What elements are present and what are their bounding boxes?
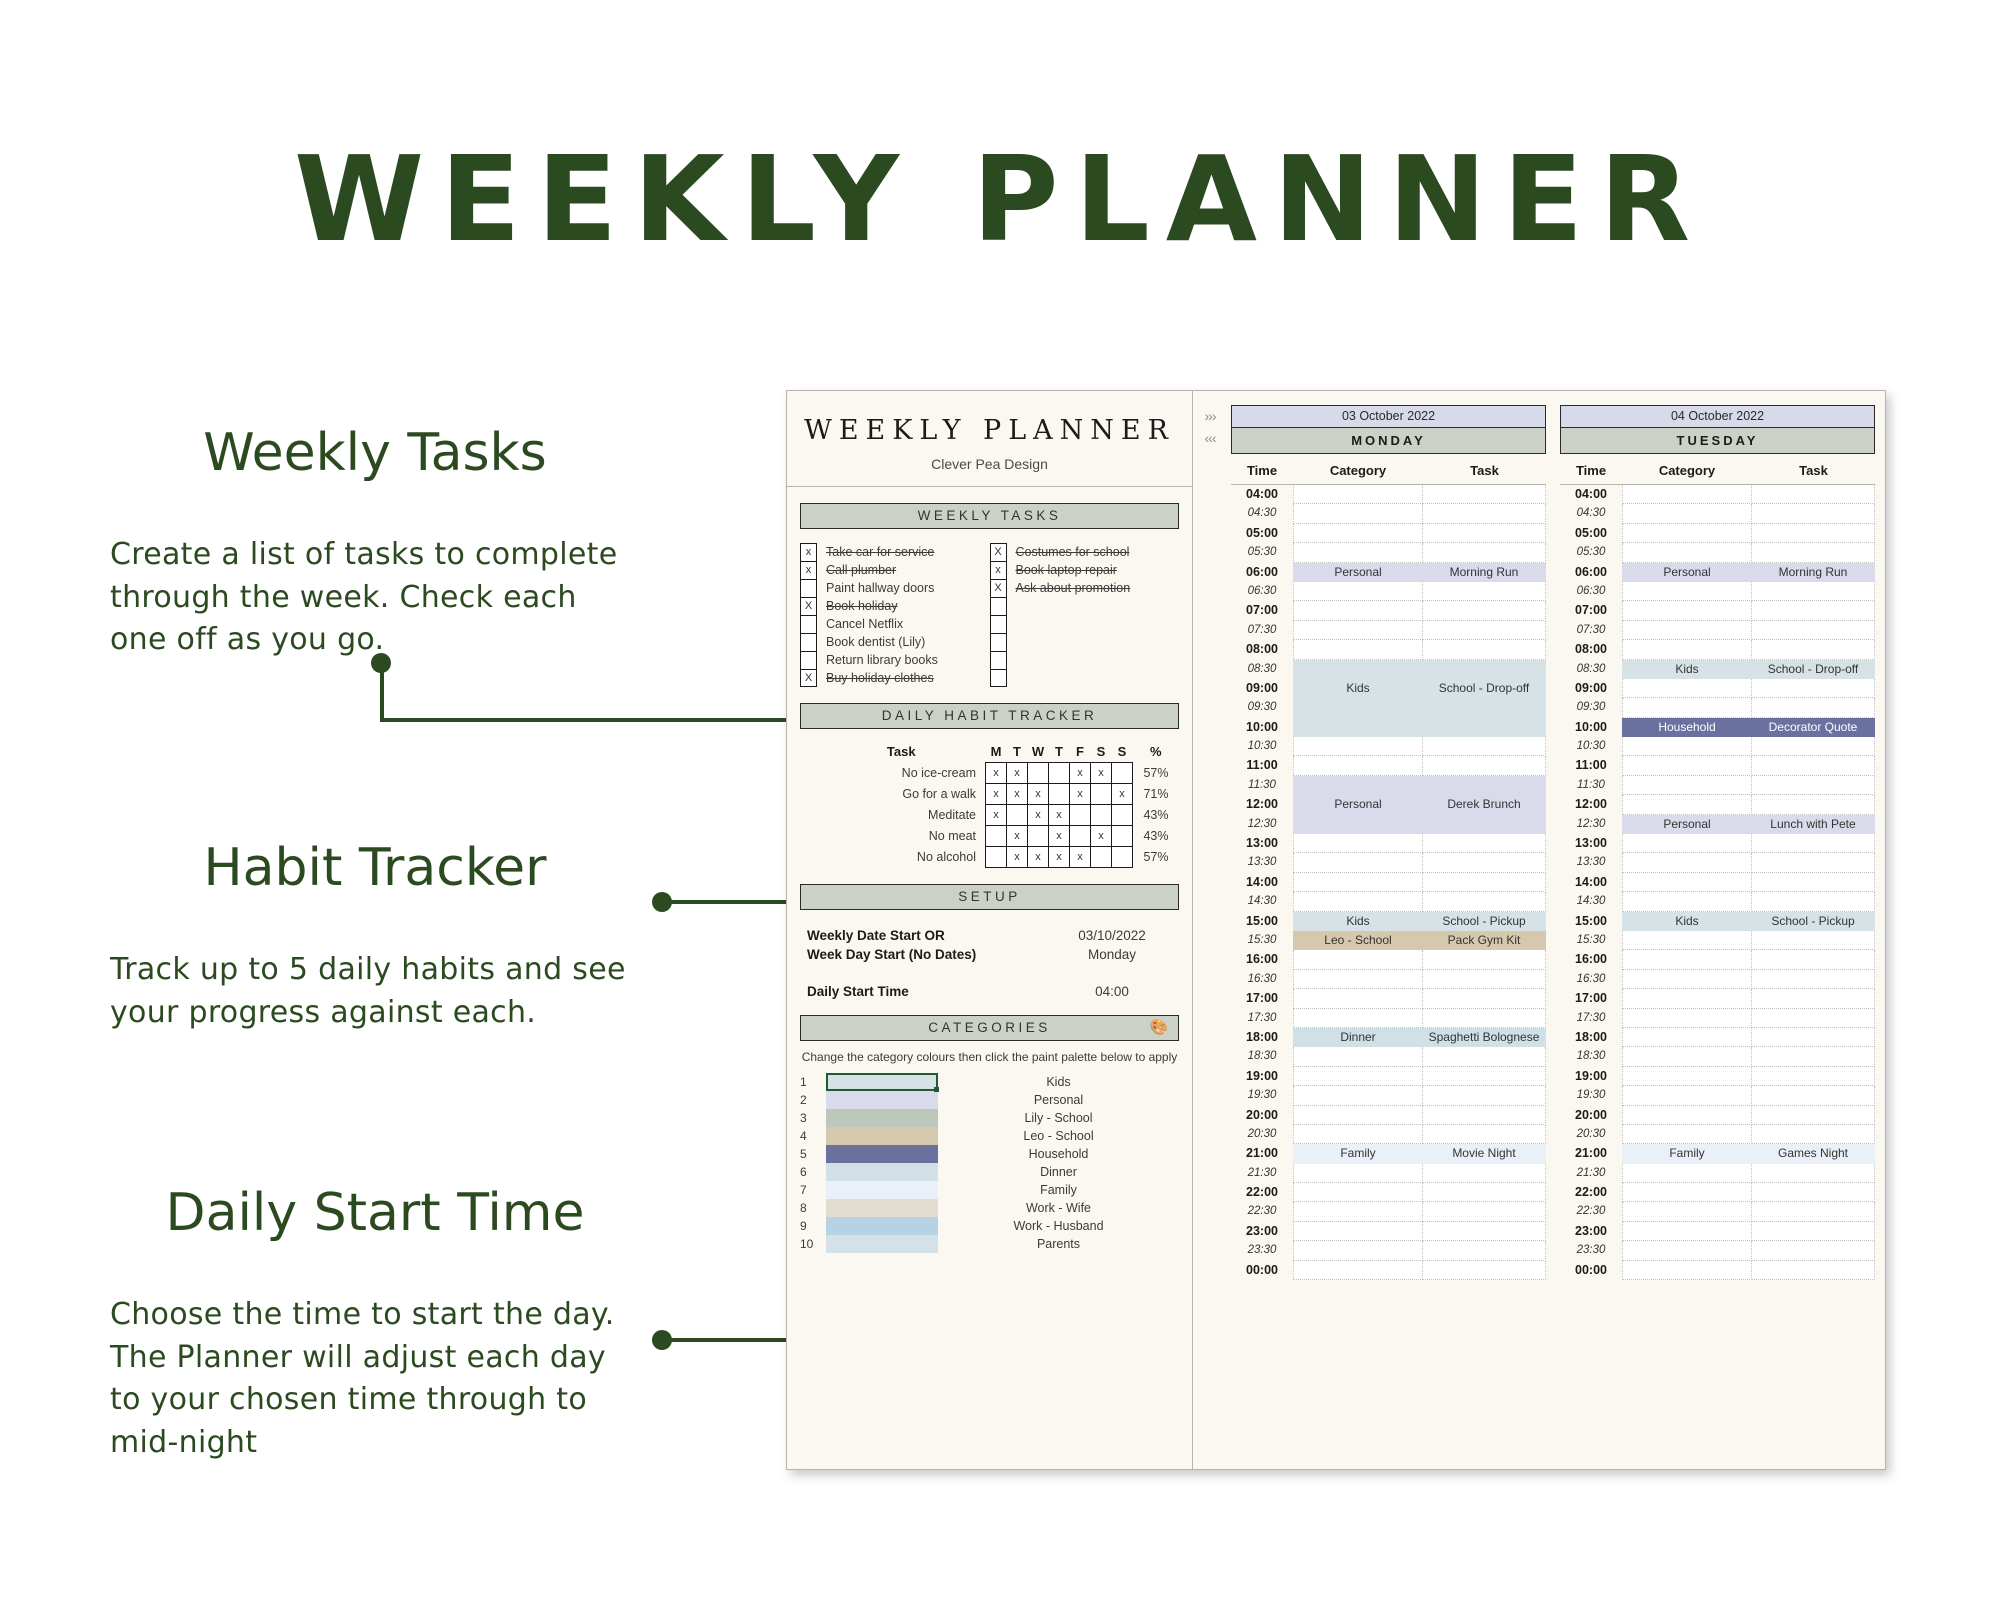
schedule-category-cell[interactable] <box>1293 504 1423 523</box>
habit-day-cell[interactable]: x <box>1028 847 1049 868</box>
schedule-category-cell[interactable]: Family <box>1293 1144 1423 1163</box>
schedule-category-cell[interactable]: Personal <box>1293 795 1423 814</box>
prev-week-button[interactable]: ‹‹‹ <box>1193 427 1227 449</box>
schedule-task-cell[interactable] <box>1423 1241 1546 1260</box>
schedule-category-cell[interactable] <box>1293 873 1423 892</box>
category-name[interactable]: Personal <box>938 1093 1179 1107</box>
schedule-task-cell[interactable] <box>1752 504 1875 523</box>
habit-day-cell[interactable]: x <box>1091 826 1112 847</box>
schedule-category-cell[interactable]: Dinner <box>1293 1028 1423 1047</box>
schedule-task-cell[interactable] <box>1752 873 1875 892</box>
schedule-task-cell[interactable] <box>1752 853 1875 872</box>
schedule-task-cell[interactable] <box>1423 756 1546 775</box>
schedule-category-cell[interactable] <box>1622 543 1752 562</box>
schedule-category-cell[interactable] <box>1293 1125 1423 1144</box>
schedule-category-cell[interactable] <box>1293 1009 1423 1028</box>
habit-day-cell[interactable]: x <box>1112 784 1133 805</box>
schedule-category-cell[interactable] <box>1293 485 1423 504</box>
schedule-task-cell[interactable] <box>1752 679 1875 698</box>
task-checkbox[interactable] <box>990 651 1007 669</box>
schedule-category-cell[interactable]: Kids <box>1622 660 1752 679</box>
schedule-category-cell[interactable] <box>1622 582 1752 601</box>
schedule-category-cell[interactable] <box>1622 1202 1752 1221</box>
schedule-category-cell[interactable] <box>1293 582 1423 601</box>
schedule-category-cell[interactable]: Personal <box>1622 563 1752 582</box>
habit-day-cell[interactable]: x <box>1049 826 1070 847</box>
schedule-category-cell[interactable] <box>1293 601 1423 620</box>
schedule-task-cell[interactable] <box>1423 853 1546 872</box>
day-date[interactable]: 03 October 2022 <box>1231 405 1546 427</box>
schedule-task-cell[interactable] <box>1423 640 1546 659</box>
schedule-category-cell[interactable] <box>1293 1086 1423 1105</box>
schedule-task-cell[interactable] <box>1752 1125 1875 1144</box>
schedule-category-cell[interactable] <box>1622 989 1752 1008</box>
habit-day-cell[interactable]: x <box>1049 805 1070 826</box>
schedule-category-cell[interactable] <box>1622 1086 1752 1105</box>
habit-day-cell[interactable]: x <box>986 805 1007 826</box>
schedule-task-cell[interactable] <box>1423 834 1546 853</box>
habit-task-label[interactable]: No ice-cream <box>817 763 986 784</box>
schedule-task-cell[interactable]: Morning Run <box>1752 563 1875 582</box>
task-label[interactable] <box>1016 669 1180 687</box>
schedule-task-cell[interactable]: School - Pickup <box>1752 912 1875 931</box>
schedule-category-cell[interactable] <box>1622 931 1752 950</box>
schedule-task-cell[interactable] <box>1423 970 1546 989</box>
task-label[interactable] <box>1016 633 1180 651</box>
header-task: Task <box>1423 463 1546 478</box>
schedule-category-cell[interactable] <box>1622 873 1752 892</box>
schedule-task-cell[interactable] <box>1423 892 1546 911</box>
schedule-category-cell[interactable] <box>1622 524 1752 543</box>
category-colour-swatch[interactable] <box>826 1217 938 1235</box>
daily-start-time-value[interactable]: 04:00 <box>1052 984 1172 999</box>
schedule-time-label: 22:00 <box>1560 1183 1622 1202</box>
schedule-task-cell[interactable] <box>1423 776 1546 795</box>
category-colour-swatch[interactable] <box>826 1199 938 1217</box>
schedule-task-cell[interactable]: Spaghetti Bolognese <box>1423 1028 1546 1047</box>
connector-dot-daily-start <box>652 1330 672 1350</box>
schedule-category-cell[interactable] <box>1293 1261 1423 1280</box>
task-checkbox[interactable] <box>990 633 1007 651</box>
schedule-task-cell[interactable] <box>1752 1106 1875 1125</box>
schedule-task-cell[interactable] <box>1752 601 1875 620</box>
schedule-category-cell[interactable]: Personal <box>1293 563 1423 582</box>
task-checkbox[interactable] <box>990 669 1007 687</box>
schedule-task-cell[interactable] <box>1752 1202 1875 1221</box>
schedule-category-cell[interactable] <box>1622 1261 1752 1280</box>
schedule-task-cell[interactable] <box>1423 989 1546 1008</box>
habit-day-cell[interactable]: x <box>1070 763 1091 784</box>
category-name[interactable]: Lily - School <box>938 1111 1179 1125</box>
task-checkbox[interactable]: X <box>800 669 817 687</box>
task-label[interactable]: Buy holiday clothes <box>826 669 990 687</box>
schedule-task-cell[interactable]: Morning Run <box>1423 563 1546 582</box>
task-label[interactable] <box>1016 651 1180 669</box>
category-row: 7Family <box>800 1181 1179 1199</box>
schedule-category-cell[interactable] <box>1293 989 1423 1008</box>
schedule-row: 13:30 <box>1231 853 1546 872</box>
schedule-time-label: 22:30 <box>1231 1202 1293 1221</box>
habit-day-cell[interactable]: x <box>986 784 1007 805</box>
schedule-category-cell[interactable] <box>1622 776 1752 795</box>
category-name[interactable]: Work - Wife <box>938 1201 1179 1215</box>
schedule-task-cell[interactable] <box>1752 1183 1875 1202</box>
section-header-categories-label: CATEGORIES <box>928 1020 1051 1035</box>
schedule-task-cell[interactable] <box>1423 660 1546 679</box>
schedule-category-cell[interactable] <box>1293 1222 1423 1241</box>
schedule-category-cell[interactable] <box>1293 815 1423 834</box>
schedule-category-cell[interactable]: Family <box>1622 1144 1752 1163</box>
schedule-category-cell[interactable] <box>1293 1241 1423 1260</box>
schedule-category-cell[interactable] <box>1622 1028 1752 1047</box>
header-time: Time <box>1231 463 1293 478</box>
habit-day-cell[interactable] <box>1112 826 1133 847</box>
habit-day-cell[interactable] <box>1070 805 1091 826</box>
habit-day-cell[interactable]: x <box>1007 826 1028 847</box>
schedule-task-cell[interactable]: Lunch with Pete <box>1752 815 1875 834</box>
task-checkbox[interactable]: X <box>990 543 1007 561</box>
habit-day-cell[interactable]: x <box>1070 784 1091 805</box>
schedule-row: 08:30 <box>1231 660 1546 679</box>
habit-day-cell[interactable] <box>1028 763 1049 784</box>
schedule-category-cell[interactable] <box>1622 679 1752 698</box>
task-checkbox[interactable]: x <box>800 543 817 561</box>
category-colour-swatch[interactable] <box>826 1091 938 1109</box>
category-name[interactable]: Work - Husband <box>938 1219 1179 1233</box>
schedule-task-cell[interactable] <box>1423 601 1546 620</box>
schedule-task-cell[interactable] <box>1423 1086 1546 1105</box>
habit-day-cell[interactable]: x <box>1049 847 1070 868</box>
category-colour-swatch[interactable] <box>826 1145 938 1163</box>
category-colour-swatch[interactable] <box>826 1127 938 1145</box>
task-label[interactable]: Costumes for school <box>1016 543 1180 561</box>
schedule-row: 04:30 <box>1231 504 1546 523</box>
habit-day-cell[interactable] <box>1049 784 1070 805</box>
schedule-task-cell[interactable]: Movie Night <box>1423 1144 1546 1163</box>
connector-dot-habit-tracker <box>652 892 672 912</box>
schedule-task-cell[interactable] <box>1752 989 1875 1008</box>
schedule-category-cell[interactable] <box>1293 950 1423 969</box>
schedule-task-cell[interactable] <box>1752 1222 1875 1241</box>
task-label[interactable]: Return library books <box>826 651 990 669</box>
habit-day-cell[interactable]: x <box>1007 763 1028 784</box>
schedule-category-cell[interactable] <box>1622 795 1752 814</box>
schedule-task-cell[interactable] <box>1752 795 1875 814</box>
schedule-category-cell[interactable] <box>1622 737 1752 756</box>
setup-row-week-day-start: Week Day Start (No Dates) Monday <box>807 947 1172 962</box>
schedule-task-cell[interactable] <box>1423 1164 1546 1183</box>
schedule-task-cell[interactable] <box>1423 543 1546 562</box>
schedule-category-cell[interactable] <box>1293 892 1423 911</box>
schedule-task-cell[interactable] <box>1752 1009 1875 1028</box>
schedule-time-label: 06:00 <box>1231 563 1293 582</box>
schedule-time-label: 00:00 <box>1560 1261 1622 1280</box>
schedule-category-cell[interactable]: Kids <box>1293 679 1423 698</box>
task-label[interactable]: Call plumber <box>826 561 990 579</box>
schedule-category-cell[interactable] <box>1293 1047 1423 1066</box>
schedule-task-cell[interactable] <box>1752 1047 1875 1066</box>
weekly-tasks-checkboxes-right[interactable]: XxX <box>990 543 1007 687</box>
schedule-category-cell[interactable] <box>1622 1125 1752 1144</box>
schedule-task-cell[interactable] <box>1752 1067 1875 1086</box>
schedule-task-cell[interactable] <box>1423 582 1546 601</box>
schedule-task-cell[interactable] <box>1752 776 1875 795</box>
schedule-row: 22:30 <box>1560 1202 1875 1221</box>
schedule-task-cell[interactable] <box>1423 621 1546 640</box>
schedule-category-cell[interactable] <box>1622 853 1752 872</box>
schedule-task-cell[interactable]: Games Night <box>1752 1144 1875 1163</box>
schedule-task-cell[interactable] <box>1752 737 1875 756</box>
setup-value[interactable]: 03/10/2022 <box>1052 928 1172 943</box>
next-week-button[interactable]: ››› <box>1193 405 1227 427</box>
schedule-category-cell[interactable] <box>1622 698 1752 717</box>
schedule-row: 12:00PersonalDerek Brunch <box>1231 795 1546 814</box>
schedule-category-cell[interactable]: Kids <box>1622 912 1752 931</box>
schedule-task-cell[interactable] <box>1423 1009 1546 1028</box>
schedule-category-cell[interactable]: Kids <box>1293 912 1423 931</box>
habit-tracker-table[interactable]: TaskMTWTFSS%No ice-creamxxxx57%Go for a … <box>817 743 1179 868</box>
schedule-category-cell[interactable] <box>1622 1047 1752 1066</box>
schedule-task-cell[interactable] <box>1752 543 1875 562</box>
category-colour-swatch[interactable] <box>826 1181 938 1199</box>
habit-day-cell[interactable]: x <box>1007 784 1028 805</box>
category-colour-swatch[interactable] <box>826 1109 938 1127</box>
schedule-task-cell[interactable] <box>1423 873 1546 892</box>
category-number: 1 <box>800 1075 826 1089</box>
schedule-category-cell[interactable] <box>1622 756 1752 775</box>
schedule-category-cell[interactable]: Personal <box>1622 815 1752 834</box>
schedule-task-cell[interactable] <box>1752 621 1875 640</box>
schedule-category-cell[interactable] <box>1293 1183 1423 1202</box>
schedule-task-cell[interactable] <box>1423 1047 1546 1066</box>
schedule-category-cell[interactable] <box>1622 970 1752 989</box>
schedule-task-cell[interactable] <box>1752 485 1875 504</box>
schedule-category-cell[interactable] <box>1622 1009 1752 1028</box>
habit-day-cell[interactable]: x <box>1007 847 1028 868</box>
task-label[interactable] <box>1016 615 1180 633</box>
task-label[interactable]: Book dentist (Lily) <box>826 633 990 651</box>
schedule-category-cell[interactable] <box>1293 853 1423 872</box>
habit-day-cell[interactable] <box>1070 826 1091 847</box>
task-label[interactable]: Ask about promotion <box>1016 579 1180 597</box>
task-label[interactable] <box>1016 597 1180 615</box>
habit-day-cell[interactable]: x <box>1028 784 1049 805</box>
schedule-category-cell[interactable] <box>1293 543 1423 562</box>
schedule-task-cell[interactable] <box>1752 582 1875 601</box>
habit-day-cell[interactable] <box>1091 847 1112 868</box>
category-number: 2 <box>800 1093 826 1107</box>
schedule-category-cell[interactable] <box>1293 756 1423 775</box>
habit-task-label[interactable]: No meat <box>817 826 986 847</box>
habit-day-cell[interactable]: x <box>986 763 1007 784</box>
schedule-task-cell[interactable]: Decorator Quote <box>1752 718 1875 737</box>
schedule-task-cell[interactable] <box>1423 1261 1546 1280</box>
schedule-category-cell[interactable] <box>1622 1241 1752 1260</box>
category-colour-swatch[interactable] <box>826 1235 938 1253</box>
schedule-category-cell[interactable] <box>1293 621 1423 640</box>
task-checkbox[interactable]: X <box>800 597 817 615</box>
task-label[interactable]: Paint hallway doors <box>826 579 990 597</box>
task-label[interactable]: Book holiday <box>826 597 990 615</box>
schedule-category-cell[interactable] <box>1293 524 1423 543</box>
task-checkbox[interactable] <box>800 579 817 597</box>
habit-day-cell[interactable] <box>1007 805 1028 826</box>
habit-day-cell[interactable] <box>1091 805 1112 826</box>
habit-day-cell[interactable] <box>986 826 1007 847</box>
schedule-category-cell[interactable] <box>1293 640 1423 659</box>
schedule-task-cell[interactable] <box>1752 524 1875 543</box>
schedule-category-cell[interactable]: Household <box>1622 718 1752 737</box>
category-name[interactable]: Kids <box>938 1075 1179 1089</box>
schedule-time-label: 15:00 <box>1560 912 1622 931</box>
schedule-task-cell[interactable] <box>1423 1183 1546 1202</box>
habit-header: W <box>1028 743 1049 763</box>
schedule-task-cell[interactable] <box>1752 1241 1875 1260</box>
schedule-row: 05:30 <box>1231 543 1546 562</box>
schedule-task-cell[interactable] <box>1423 950 1546 969</box>
task-checkbox[interactable]: x <box>990 561 1007 579</box>
schedule-task-cell[interactable] <box>1752 1086 1875 1105</box>
schedule-category-cell[interactable] <box>1622 621 1752 640</box>
schedule-task-cell[interactable] <box>1423 737 1546 756</box>
schedule-task-cell[interactable] <box>1423 1222 1546 1241</box>
schedule-category-cell[interactable] <box>1293 834 1423 853</box>
schedule-category-cell[interactable] <box>1622 1106 1752 1125</box>
category-name[interactable]: Household <box>938 1147 1179 1161</box>
schedule-category-cell[interactable] <box>1293 970 1423 989</box>
category-name[interactable]: Family <box>938 1183 1179 1197</box>
schedule-task-cell[interactable] <box>1423 524 1546 543</box>
schedule-row: 19:00 <box>1231 1067 1546 1086</box>
habit-day-cell[interactable] <box>1112 763 1133 784</box>
schedule-task-cell[interactable] <box>1752 931 1875 950</box>
habit-task-label[interactable]: No alcohol <box>817 847 986 868</box>
task-label[interactable]: Book laptop repair <box>1016 561 1180 579</box>
schedule-task-cell[interactable]: School - Drop-off <box>1423 679 1546 698</box>
schedule-category-cell[interactable] <box>1293 718 1423 737</box>
schedule-category-cell[interactable] <box>1293 1106 1423 1125</box>
schedule-category-cell[interactable] <box>1622 950 1752 969</box>
task-checkbox[interactable]: X <box>990 579 1007 597</box>
schedule-time-label: 08:00 <box>1560 640 1622 659</box>
schedule-task-cell[interactable] <box>1752 698 1875 717</box>
schedule-task-cell[interactable] <box>1752 1164 1875 1183</box>
schedule-task-cell[interactable] <box>1423 1106 1546 1125</box>
schedule-task-cell[interactable] <box>1423 504 1546 523</box>
day-date[interactable]: 04 October 2022 <box>1560 405 1875 427</box>
connector-dot-weekly-tasks <box>371 653 391 673</box>
habit-day-cell[interactable] <box>1112 805 1133 826</box>
schedule-row: 18:30 <box>1560 1047 1875 1066</box>
schedule-time-label: 20:30 <box>1231 1125 1293 1144</box>
schedule-task-cell[interactable] <box>1423 1125 1546 1144</box>
task-checkbox[interactable]: x <box>800 561 817 579</box>
schedule-category-cell[interactable] <box>1622 1164 1752 1183</box>
header-task: Task <box>1752 463 1875 478</box>
schedule-task-cell[interactable]: Derek Brunch <box>1423 795 1546 814</box>
habit-day-cell[interactable] <box>986 847 1007 868</box>
schedule-category-cell[interactable] <box>1293 1202 1423 1221</box>
schedule-category-cell[interactable] <box>1293 1067 1423 1086</box>
schedule-task-cell[interactable] <box>1752 834 1875 853</box>
schedule-task-cell[interactable] <box>1423 1202 1546 1221</box>
schedule-task-cell[interactable] <box>1752 756 1875 775</box>
schedule-task-cell[interactable] <box>1423 815 1546 834</box>
task-label[interactable]: Cancel Netflix <box>826 615 990 633</box>
schedule-category-cell[interactable] <box>1293 1164 1423 1183</box>
task-checkbox[interactable] <box>800 615 817 633</box>
schedule-task-cell[interactable] <box>1423 718 1546 737</box>
habit-day-cell[interactable]: x <box>1091 763 1112 784</box>
weekly-tasks-checkboxes-left[interactable]: xxXX <box>800 543 817 687</box>
schedule-time-label: 16:30 <box>1560 970 1622 989</box>
schedule-category-cell[interactable] <box>1293 776 1423 795</box>
schedule-category-cell[interactable] <box>1622 1067 1752 1086</box>
task-checkbox[interactable] <box>990 597 1007 615</box>
schedule-category-cell[interactable]: Leo - School <box>1293 931 1423 950</box>
category-colour-swatch[interactable] <box>826 1163 938 1181</box>
habit-day-cell[interactable]: x <box>1028 805 1049 826</box>
habit-day-cell[interactable] <box>1049 763 1070 784</box>
schedule-task-cell[interactable] <box>1752 640 1875 659</box>
schedule-row: 20:00 <box>1560 1106 1875 1125</box>
schedule-category-cell[interactable] <box>1622 1183 1752 1202</box>
schedule-row: 18:30 <box>1231 1047 1546 1066</box>
schedule-task-cell[interactable] <box>1752 1028 1875 1047</box>
habit-task-label[interactable]: Meditate <box>817 805 986 826</box>
category-name[interactable]: Dinner <box>938 1165 1179 1179</box>
task-checkbox[interactable] <box>990 615 1007 633</box>
schedule-category-cell[interactable] <box>1293 698 1423 717</box>
schedule-category-cell[interactable] <box>1622 1222 1752 1241</box>
category-name[interactable]: Parents <box>938 1237 1179 1251</box>
schedule-category-cell[interactable] <box>1622 601 1752 620</box>
category-colour-swatch[interactable] <box>826 1073 938 1091</box>
task-label[interactable]: Take car for service <box>826 543 990 561</box>
category-number: 9 <box>800 1219 826 1233</box>
schedule-category-cell[interactable] <box>1622 485 1752 504</box>
schedule-task-cell[interactable] <box>1752 950 1875 969</box>
category-name[interactable]: Leo - School <box>938 1129 1179 1143</box>
schedule-task-cell[interactable]: School - Pickup <box>1423 912 1546 931</box>
schedule-row: 12:30PersonalLunch with Pete <box>1560 815 1875 834</box>
schedule-category-cell[interactable] <box>1293 660 1423 679</box>
schedule-category-cell[interactable] <box>1622 640 1752 659</box>
schedule-category-cell[interactable] <box>1622 892 1752 911</box>
schedule-task-cell[interactable] <box>1423 485 1546 504</box>
schedule-task-cell[interactable] <box>1423 1067 1546 1086</box>
habit-day-cell[interactable]: x <box>1070 847 1091 868</box>
habit-day-cell[interactable] <box>1091 784 1112 805</box>
schedule-task-cell[interactable]: School - Drop-off <box>1752 660 1875 679</box>
habit-day-cell[interactable] <box>1028 826 1049 847</box>
paint-palette-icon[interactable]: 🎨 <box>1150 1018 1172 1038</box>
habit-day-cell[interactable] <box>1112 847 1133 868</box>
schedule-task-cell[interactable] <box>1752 892 1875 911</box>
schedule-task-cell[interactable] <box>1752 970 1875 989</box>
setup-value[interactable]: Monday <box>1052 947 1172 962</box>
schedule-task-cell[interactable]: Pack Gym Kit <box>1423 931 1546 950</box>
habit-task-label[interactable]: Go for a walk <box>817 784 986 805</box>
schedule-task-cell[interactable] <box>1423 698 1546 717</box>
task-checkbox[interactable] <box>800 633 817 651</box>
schedule-category-cell[interactable] <box>1622 504 1752 523</box>
task-checkbox[interactable] <box>800 651 817 669</box>
schedule-time-label: 13:00 <box>1231 834 1293 853</box>
schedule-category-cell[interactable] <box>1622 834 1752 853</box>
schedule-task-cell[interactable] <box>1752 1261 1875 1280</box>
schedule-category-cell[interactable] <box>1293 737 1423 756</box>
